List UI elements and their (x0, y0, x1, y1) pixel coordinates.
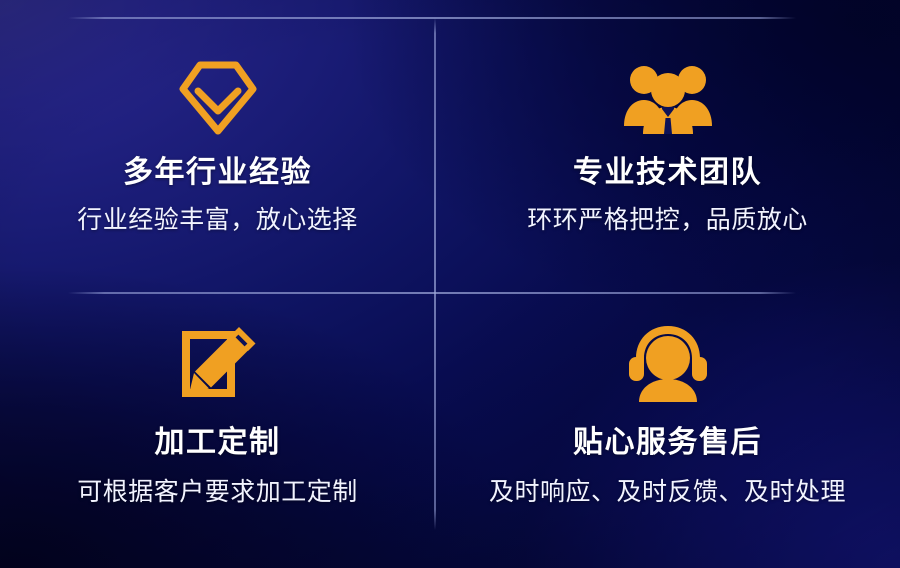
team-group-icon (622, 58, 714, 134)
feature-title: 专业技术团队 (573, 156, 762, 189)
feature-description: 可根据客户要求加工定制 (77, 479, 358, 507)
feature-title: 加工定制 (155, 426, 281, 459)
feature-card-experience: 多年行业经验 行业经验丰富，放心选择 (0, 0, 435, 284)
diamond-check-icon (176, 58, 260, 138)
feature-grid: 多年行业经验 行业经验丰富，放心选择 (0, 0, 900, 568)
feature-description: 环环严格把控，品质放心 (527, 207, 808, 235)
feature-card-customization: 加工定制 可根据客户要求加工定制 (0, 284, 435, 568)
feature-card-team: 专业技术团队 环环严格把控，品质放心 (435, 0, 900, 284)
feature-description: 及时响应、及时反馈、及时处理 (489, 479, 846, 507)
feature-banner: 多年行业经验 行业经验丰富，放心选择 (0, 0, 900, 568)
feature-title: 贴心服务售后 (573, 426, 762, 459)
headset-support-icon (625, 324, 711, 402)
feature-title: 多年行业经验 (123, 156, 312, 189)
feature-description: 行业经验丰富，放心选择 (77, 207, 358, 235)
feature-card-support: 贴心服务售后 及时响应、及时反馈、及时处理 (435, 284, 900, 568)
edit-pencil-square-icon (177, 324, 259, 402)
